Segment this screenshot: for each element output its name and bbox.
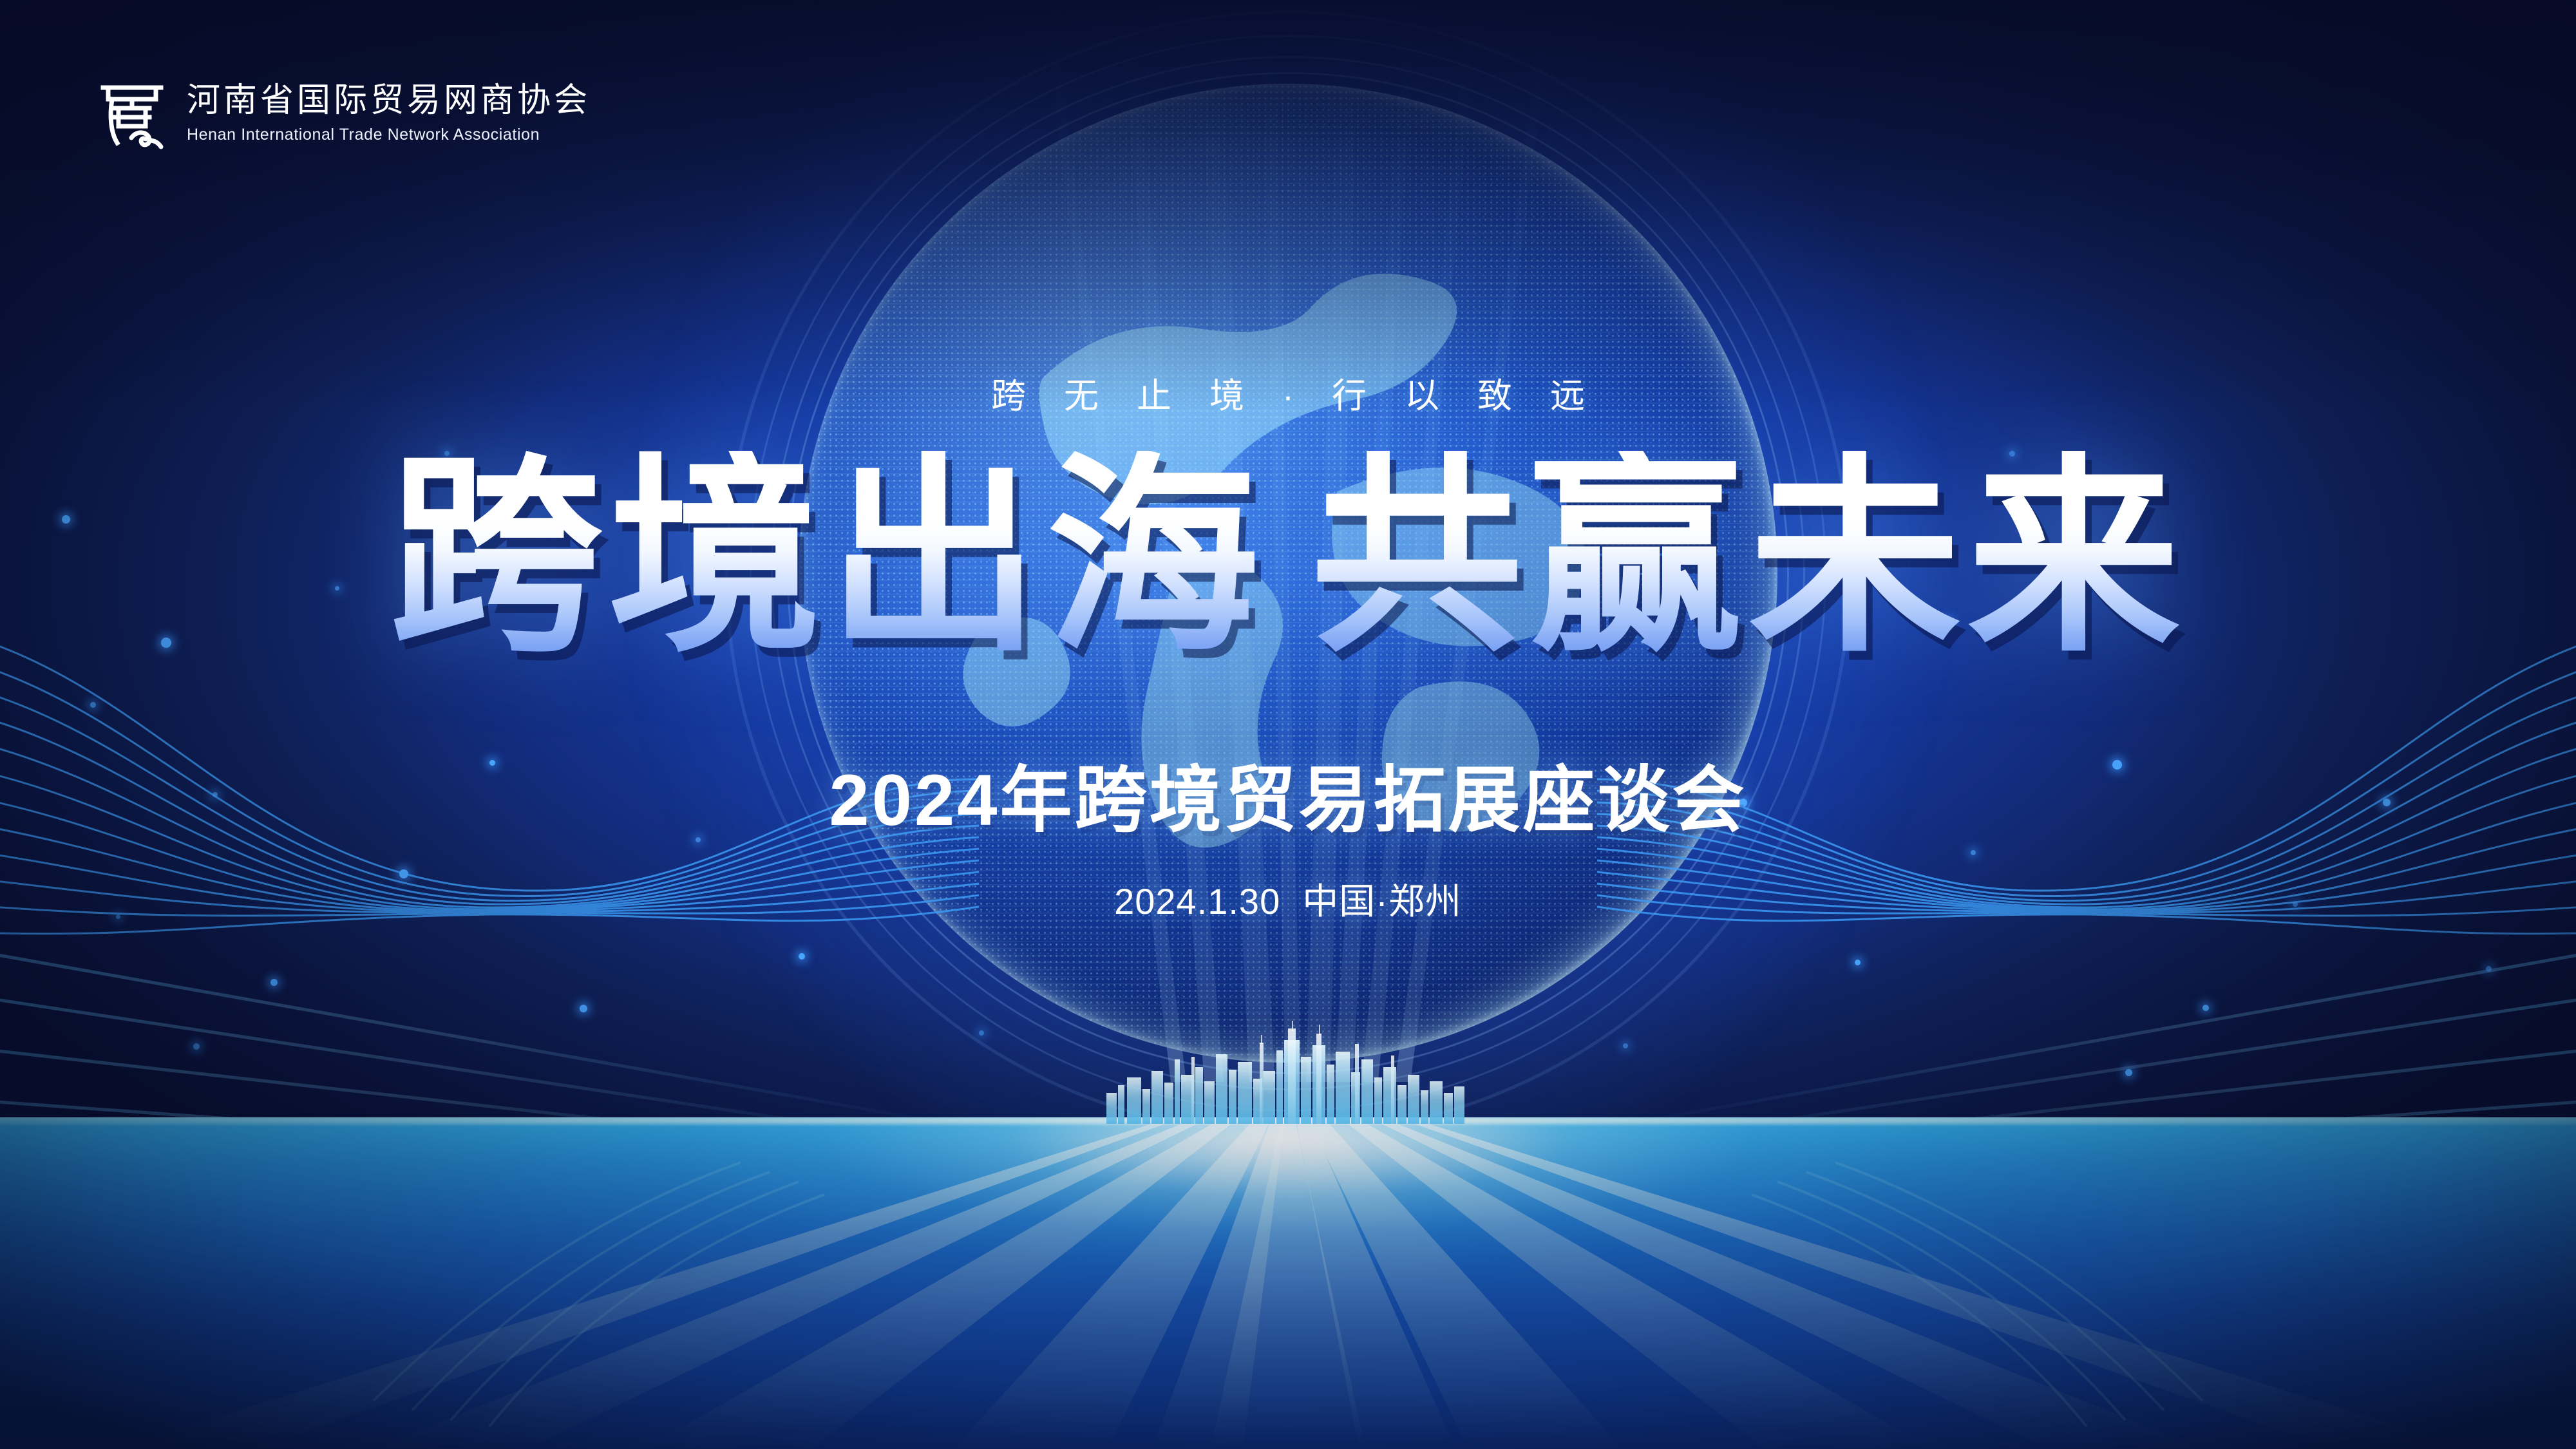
tagline: 跨 无 止 境 · 行 以 致 远 (0, 367, 2576, 418)
association-logo[interactable]: 河南省国际贸易网商协会 Henan International Trade Ne… (97, 76, 591, 152)
org-name-en: Henan International Trade Network Associ… (187, 124, 591, 146)
vignette-overlay (0, 0, 2576, 1449)
poster-canvas: 河南省国际贸易网商协会 Henan International Trade Ne… (0, 0, 2576, 1449)
headline-part-2: 共赢未来 (1311, 451, 2186, 663)
event-date-location: 2024.1.30中国·郑州 (0, 873, 2576, 925)
event-location: 中国·郑州 (1302, 881, 1462, 922)
event-subtitle: 2024年跨境贸易拓展座谈会 (0, 742, 2576, 846)
henan-seal-logo-icon (97, 76, 167, 152)
logo-text-block: 河南省国际贸易网商协会 Henan International Trade Ne… (187, 82, 591, 146)
event-date: 2024.1.30 (1114, 881, 1280, 922)
org-name-cn: 河南省国际贸易网商协会 (187, 82, 591, 119)
headline-part-1: 跨境出海 (390, 451, 1265, 663)
main-headline: 跨境出海共赢未来 (0, 451, 2576, 663)
